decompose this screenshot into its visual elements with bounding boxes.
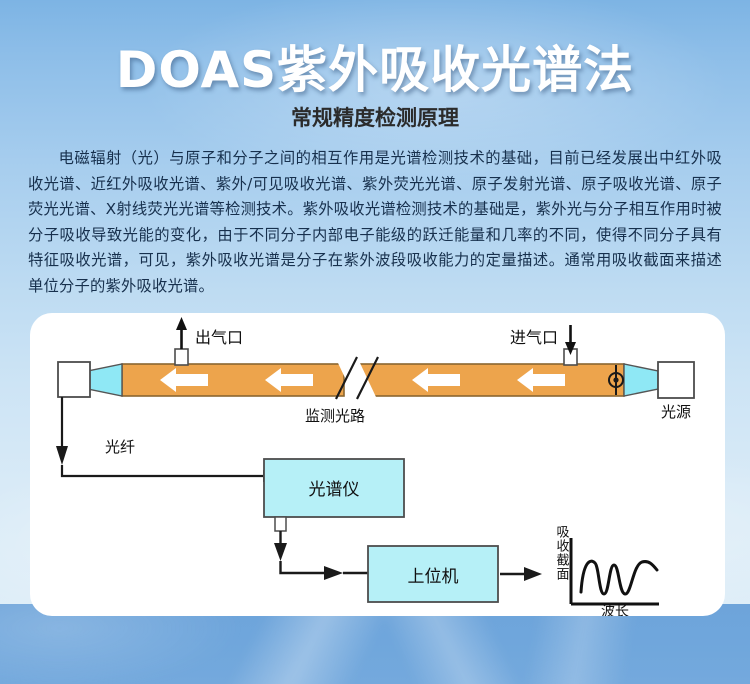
page-subtitle: 常规精度检测原理 — [0, 102, 750, 132]
background-bottom-band — [0, 604, 750, 684]
light-source-cone — [624, 364, 658, 396]
chart-spectrum-curve — [581, 561, 657, 594]
chart-x-axis-label: 波长 — [601, 604, 629, 616]
detector-cone — [88, 364, 122, 396]
gas-outlet-port — [175, 349, 188, 365]
light-source-label: 光源 — [661, 403, 691, 421]
host-computer-label: 上位机 — [408, 567, 459, 587]
absorption-spectrum-chart — [571, 538, 659, 604]
data-arrow-right-head — [324, 566, 343, 580]
light-source-box — [658, 362, 694, 398]
spectrometer-connector — [275, 517, 286, 531]
data-arrow-down-head — [274, 543, 287, 561]
optical-path-label: 监测光路 — [305, 407, 365, 425]
doas-principle-diagram: 光源 出气口 进气口 监测光路 光纤 — [30, 313, 725, 616]
spectrometer-label: 光谱仪 — [309, 480, 360, 500]
fiber-arrow-down-head — [56, 446, 68, 465]
optical-fiber-label: 光纤 — [105, 438, 135, 456]
diagram-card: 光源 出气口 进气口 监测光路 光纤 — [30, 313, 725, 616]
fiber-line-horizontal — [62, 465, 270, 476]
data-line-horizontal — [281, 561, 331, 573]
measurement-tube-right-segment — [360, 364, 624, 396]
page-title: DOAS紫外吸收光谱法 — [0, 30, 750, 102]
gas-inlet-label: 进气口 — [510, 328, 558, 347]
output-arrow-head — [524, 567, 542, 581]
gas-outlet-label: 出气口 — [195, 328, 243, 347]
detector-box — [58, 362, 90, 397]
gas-outlet-arrow-head — [176, 317, 187, 330]
body-paragraph: 电磁辐射（光）与原子和分子之间的相互作用是光谱检测技术的基础，目前已经发展出中红… — [28, 146, 722, 300]
chart-y-axis-label: 吸收截面 — [554, 525, 570, 581]
page-root: DOAS紫外吸收光谱法 常规精度检测原理 电磁辐射（光）与原子和分子之间的相互作… — [0, 0, 750, 684]
